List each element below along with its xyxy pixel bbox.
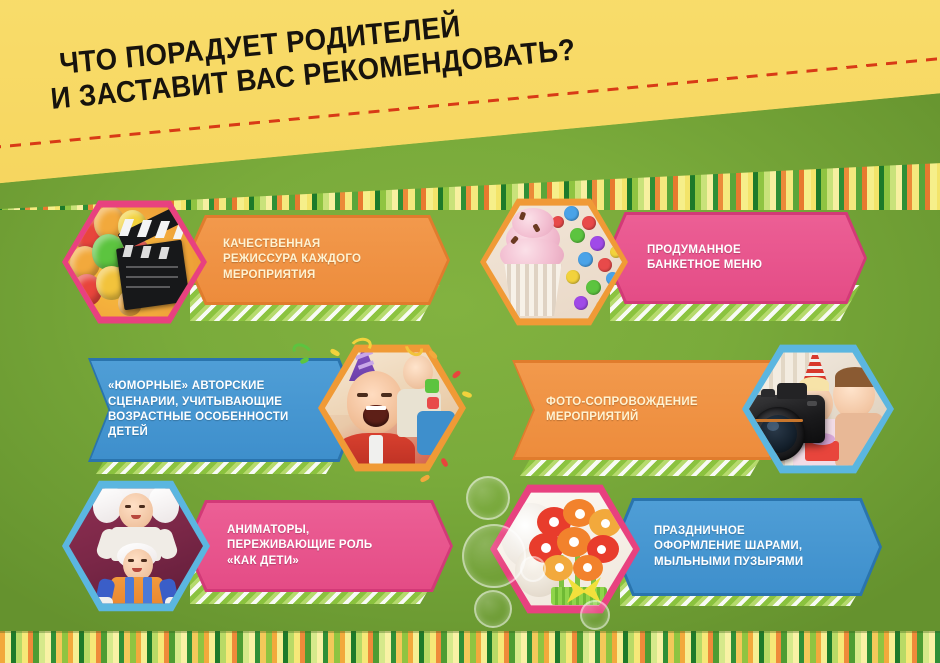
- card-5-banner[interactable]: АНИМАТОРЫ, ПЕРЕЖИВАЮЩИЕ РОЛЬ «КАК ДЕТИ»: [185, 500, 453, 592]
- card-2-label: ПРОДУМАННОЕ БАНКЕТНОЕ МЕНЮ: [647, 243, 762, 274]
- soap-bubble: [580, 600, 610, 630]
- soap-bubble: [520, 556, 546, 582]
- soap-bubble: [466, 476, 510, 520]
- bottom-stripe-band: [0, 631, 940, 663]
- card-1-label: КАЧЕСТВЕННАЯ РЕЖИССУРА КАЖДОГО МЕРОПРИЯТ…: [223, 237, 361, 283]
- card-6-banner[interactable]: ПРАЗДНИЧНОЕ ОФОРМЛЕНИЕ ШАРАМИ, МЫЛЬНЫМИ …: [612, 498, 882, 596]
- card-3-label: «ЮМОРНЫЕ» АВТОРСКИЕ СЦЕНАРИИ, УЧИТЫВАЮЩИ…: [108, 379, 289, 440]
- card-5-label: АНИМАТОРЫ, ПЕРЕЖИВАЮЩИЕ РОЛЬ «КАК ДЕТИ»: [227, 523, 372, 569]
- card-1-banner[interactable]: КАЧЕСТВЕННАЯ РЕЖИССУРА КАЖДОГО МЕРОПРИЯТ…: [185, 215, 450, 305]
- card-4-label: ФОТО-СОПРОВОЖДЕНИЕ МЕРОПРИЯТИЙ: [546, 395, 698, 426]
- card-6-label: ПРАЗДНИЧНОЕ ОФОРМЛЕНИЕ ШАРАМИ, МЫЛЬНЫМИ …: [654, 524, 803, 570]
- soap-bubble: [474, 590, 512, 628]
- soap-bubble: [462, 524, 526, 588]
- infographic-stage: ЧТО ПОРАДУЕТ РОДИТЕЛЕЙ И ЗАСТАВИТ ВАС РЕ…: [0, 0, 940, 663]
- card-2-banner[interactable]: ПРОДУМАННОЕ БАНКЕТНОЕ МЕНЮ: [605, 212, 867, 304]
